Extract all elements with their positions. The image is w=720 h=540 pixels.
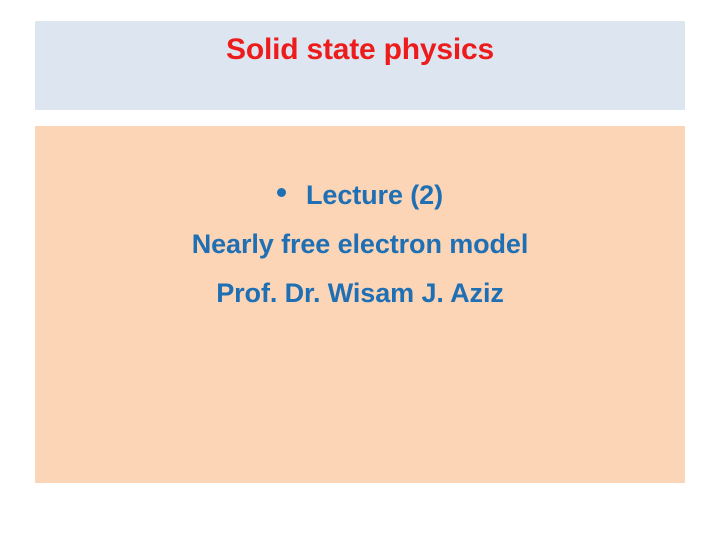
slide-body-content: Lecture (2) Nearly free electron model P…: [35, 181, 685, 307]
body-line-topic: Nearly free electron model: [35, 231, 685, 258]
slide-title: Solid state physics: [35, 32, 685, 67]
title-banner: Solid state physics: [35, 21, 685, 110]
body-line-lecture-label: Lecture (2): [306, 182, 443, 209]
body-line-lecture: Lecture (2): [35, 181, 685, 209]
body-line-author: Prof. Dr. Wisam J. Aziz: [35, 280, 685, 307]
bullet-point-icon: [277, 188, 286, 197]
presentation-slide: Solid state physics Lecture (2) Nearly f…: [0, 0, 720, 540]
slide-body-panel: Lecture (2) Nearly free electron model P…: [35, 126, 685, 483]
